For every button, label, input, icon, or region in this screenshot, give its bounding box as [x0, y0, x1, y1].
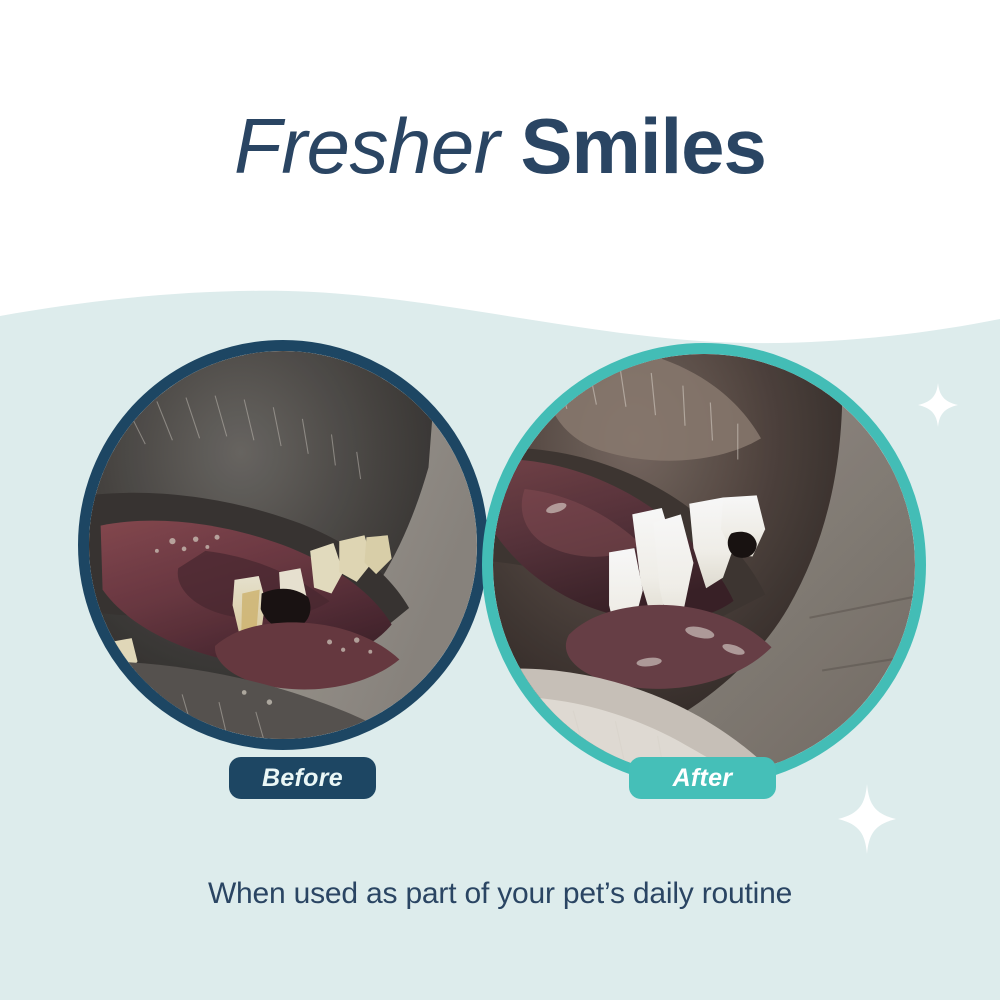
before-photo-circle — [78, 340, 488, 750]
caption-text: When used as part of your pet’s daily ro… — [0, 877, 1000, 911]
before-badge: Before — [229, 757, 376, 799]
after-badge-label: After — [673, 764, 733, 793]
after-badge: After — [629, 757, 776, 799]
after-photo-illustration — [493, 354, 915, 776]
before-photo — [89, 351, 477, 739]
comparison-area: Before After — [0, 0, 1000, 1000]
before-photo-illustration — [89, 351, 477, 739]
after-photo — [493, 354, 915, 776]
before-badge-label: Before — [262, 764, 343, 793]
before-after-poster: Fresher Smiles — [0, 0, 1000, 1000]
after-photo-circle — [482, 343, 926, 787]
